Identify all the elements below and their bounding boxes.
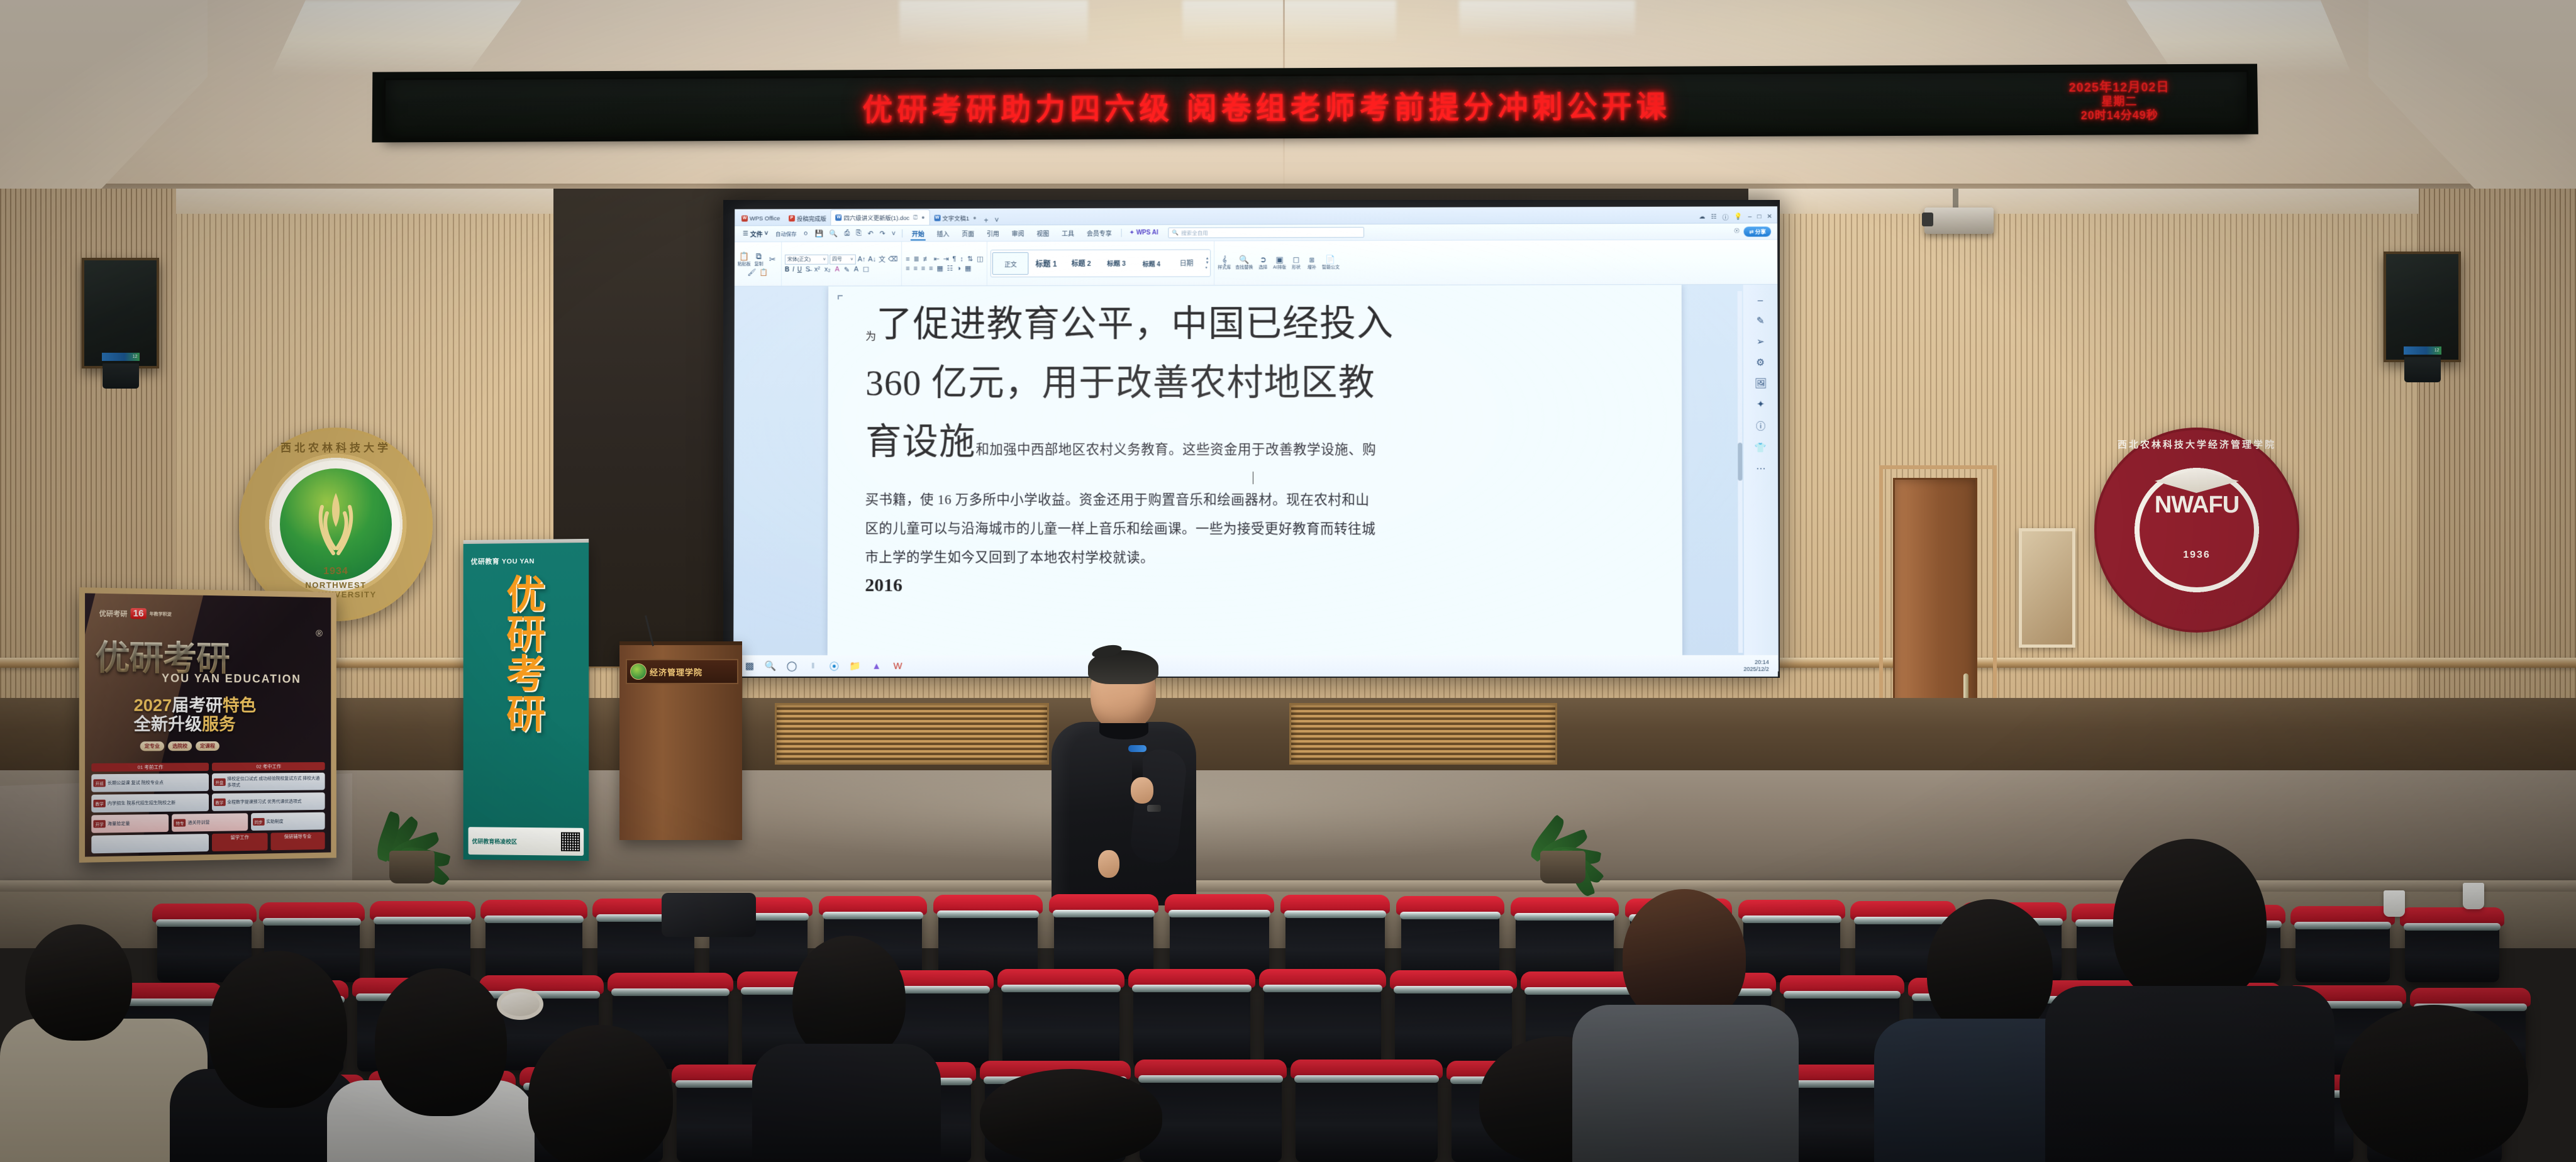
gallery-scroll-arrows[interactable]: ▲ ▼ ▾ bbox=[1204, 257, 1209, 270]
poster-footer-card: 保研辅导专业 bbox=[270, 832, 325, 850]
doc-paragraph-line-2: 买书籍，使 16 万多所中小学收益。资金还用于购置音乐和绘画器材。现在农村和山 bbox=[865, 485, 1644, 515]
speaker-badge: 12 bbox=[2404, 346, 2441, 355]
addon-button[interactable]: ⧈ 增补 bbox=[1306, 255, 1318, 270]
smart-doc-label: 智能公文 bbox=[1322, 264, 1340, 270]
wps-home-tab[interactable]: W WPS Office bbox=[737, 211, 784, 225]
poster-card-text: 海量拾定量 bbox=[108, 821, 130, 827]
auditorium-seat bbox=[1296, 1069, 1438, 1162]
podium-plaque: 经济管理学院 bbox=[626, 659, 738, 684]
share-label: 分享 bbox=[1755, 228, 1766, 235]
hair-scrunchie bbox=[497, 988, 543, 1020]
cloud-sync-icon[interactable]: ☁ bbox=[1699, 214, 1705, 221]
help-icon[interactable]: ⓘ bbox=[1723, 212, 1729, 221]
emblem-left-en-line1: NORTHWEST bbox=[305, 580, 366, 590]
projected-wps-window[interactable]: W WPS Office P 投稿完成版 W 四六级讲义更新版(1).doc ⎚… bbox=[733, 206, 1779, 672]
ribbon-group-clipboard: 📋 粘贴板 ⧉ 复制 ✂ 🖌 📋 bbox=[735, 242, 781, 286]
highlight-color-icon[interactable]: ✎ bbox=[843, 265, 850, 274]
print-preview-icon[interactable]: ⎘ bbox=[853, 230, 865, 238]
style-heading-1[interactable]: 标题 1 bbox=[1029, 253, 1064, 274]
audience-member-head bbox=[2113, 839, 2267, 1007]
character-border-icon[interactable]: ☐ bbox=[862, 265, 870, 274]
clock-time: 20:14 bbox=[1743, 659, 1769, 666]
auditorium-seat bbox=[1401, 905, 1499, 981]
lecture-hall-photo: 12 12 优研考研助力四六级 阅卷组老师考前提分冲刺公开课 2025年12月0… bbox=[0, 0, 2576, 1162]
auditorium-seat bbox=[2296, 916, 2390, 982]
shape-label: 形状 bbox=[1292, 264, 1301, 270]
speaker-badge: 12 bbox=[102, 353, 140, 361]
poster-chip: 选院校 bbox=[168, 741, 192, 751]
poster-badge-note: 年教学积淀 bbox=[150, 611, 172, 617]
shading-icon[interactable]: ◑ bbox=[956, 265, 962, 272]
emblem-left-name-cn: 西北农林科技大学 bbox=[241, 439, 430, 455]
font-family-select[interactable]: 宋体(正文) ˅ bbox=[785, 254, 828, 264]
poster-badge: 优研考研 16 年教学积淀 bbox=[99, 607, 172, 619]
rollup-brand-en: YOU YAN bbox=[502, 558, 535, 565]
italic-button[interactable]: I bbox=[792, 266, 794, 273]
led-time: 20时14分49秒 bbox=[2016, 109, 2223, 123]
doc-inline-tail: 和加强中西部地区农村义务教育。这些资金用于改善教学设施、购 bbox=[975, 439, 1376, 461]
sparkle-icon[interactable]: ✦ bbox=[1757, 399, 1765, 410]
ceiling-light-cove bbox=[270, 0, 522, 75]
poster-promo-year: 2027 bbox=[134, 696, 172, 715]
cursor-select-icon: ➲ bbox=[1260, 255, 1267, 263]
audience-member-shoulders bbox=[2045, 986, 2334, 1162]
auditorium-seat bbox=[1743, 909, 1840, 982]
show-marks-icon[interactable]: ¶ bbox=[952, 255, 957, 263]
wps-ai-label: WPS AI bbox=[1136, 230, 1158, 236]
divider bbox=[902, 230, 902, 238]
minimize-button[interactable]: – bbox=[1748, 213, 1752, 220]
increase-font-icon[interactable]: A↑ bbox=[857, 255, 867, 263]
ribbon-tab-review[interactable]: 审阅 bbox=[1006, 227, 1031, 239]
smart-doc-button[interactable]: 📄 智能公文 bbox=[1322, 255, 1340, 270]
image-icon[interactable]: 🖼 bbox=[1755, 377, 1767, 389]
emblem-right-name-cn: 西北农林科技大学经济管理学院 bbox=[2097, 438, 2297, 451]
decrease-font-icon[interactable]: A↓ bbox=[867, 255, 877, 263]
ribbon-tab-insert[interactable]: 插入 bbox=[931, 228, 956, 240]
search-doc-icon[interactable]: 🔍 bbox=[826, 230, 841, 238]
shirt-icon[interactable]: 👕 bbox=[1755, 442, 1767, 453]
font-color-icon[interactable]: A bbox=[853, 266, 859, 274]
table-tools-icon[interactable]: ▦ bbox=[964, 264, 972, 272]
margin-marker bbox=[838, 295, 843, 299]
search-placeholder: 搜索全自用 bbox=[1181, 229, 1207, 236]
document-tab-active[interactable]: W 四六级讲义更新版(1).doc ⎚ ● bbox=[831, 209, 930, 225]
subscript-icon[interactable]: x₂ bbox=[824, 266, 831, 274]
presenter-watch bbox=[1147, 805, 1161, 812]
wall-speaker-left: 12 bbox=[82, 258, 159, 368]
edge-icon[interactable]: ⦿ bbox=[824, 660, 845, 673]
poster-card: 教学 全程数字提课预习式 优秀代课优选项式 bbox=[211, 792, 325, 811]
find-replace-button[interactable]: 🔍 查找替换 bbox=[1235, 255, 1253, 270]
poster-card-tag: 开班 bbox=[93, 779, 105, 787]
align-center-icon[interactable]: ≡ bbox=[913, 265, 918, 272]
store-icon[interactable]: ▲ bbox=[866, 661, 887, 672]
autosave-label: 自动保存 bbox=[772, 230, 800, 238]
underline-button[interactable]: U bbox=[797, 266, 802, 273]
divider: ‖ bbox=[802, 661, 824, 670]
poster-card-text: 通关符训营 bbox=[187, 819, 209, 826]
poster-registered-mark: ® bbox=[316, 628, 323, 639]
poster-card: 同步 实助制度 bbox=[251, 812, 325, 831]
chevron-down-icon[interactable]: ▼ bbox=[1206, 261, 1209, 265]
strikethrough-icon[interactable]: S̶ bbox=[805, 266, 811, 274]
ribbon-group-paragraph: ≡ ≣ ≢ ⇤ ⇥ ¶ ↕ ⇅ ◫ ≡ ≡ ≡ ≡ ▦ ☷ ◑ bbox=[901, 241, 987, 285]
poster-chip: 定专业 bbox=[140, 741, 164, 751]
expand-icon[interactable]: ▾ bbox=[1206, 265, 1209, 270]
format-painter-icon[interactable]: 🖌 bbox=[747, 268, 757, 276]
rollup-brand-cn: 优研教育 bbox=[471, 558, 500, 565]
close-icon[interactable]: ● bbox=[921, 214, 924, 221]
emblem-right-monogram: NWAFU bbox=[2097, 492, 2297, 519]
audience-member-head bbox=[792, 936, 906, 1061]
college-emblem-right: 西北农林科技大学经济管理学院 NWAFU 1936 COLLEGE OF ECO… bbox=[2094, 428, 2299, 633]
ribbon-tab-page[interactable]: 页面 bbox=[955, 227, 980, 239]
emblem-right-name-en: COLLEGE OF ECONOMICS & MANAGEMENT bbox=[2097, 599, 2297, 616]
poster-chip: 定课程 bbox=[196, 741, 219, 751]
windows-start-icon[interactable]: ▩ bbox=[739, 660, 760, 672]
audience-member-head bbox=[2340, 1005, 2528, 1162]
smart-doc-icon: 📄 bbox=[1326, 255, 1336, 263]
poster-chip-row: 定专业 选院校 定课程 bbox=[140, 741, 219, 751]
paste-label: 粘贴板 bbox=[738, 260, 751, 267]
ribbon-group-font: 宋体(正文) ˅ 四号 ˅ A↑ A↓ 文 ⌫ B I U S̶ bbox=[781, 242, 901, 286]
poster-card: 特专 通关符训营 bbox=[172, 813, 247, 832]
style-pane-label: 样式库 bbox=[1218, 264, 1231, 270]
doc-big-text-3: 育设施 bbox=[865, 412, 976, 472]
doc-big-line-1: 为了促进教育公平，中国已经投入 bbox=[865, 294, 1643, 354]
share-icon: ⇄ bbox=[1749, 228, 1753, 235]
copy-label: 复制 bbox=[755, 260, 763, 267]
vertical-scrollbar[interactable] bbox=[1738, 291, 1743, 653]
poster-card-text: 实助制度 bbox=[266, 818, 283, 824]
qr-code-icon bbox=[561, 833, 580, 851]
audience-member-head bbox=[980, 1069, 1162, 1162]
settings-sliders-icon[interactable]: ⚙ bbox=[1756, 357, 1765, 368]
addon-icon: ⧈ bbox=[1309, 255, 1314, 263]
hamburger-icon: ☰ bbox=[743, 230, 748, 237]
ribbon-group-styles: 正文 标题 1 标题 2 标题 3 标题 4 日期 ▲ ▼ ▾ bbox=[987, 241, 1214, 285]
font-size-value: 四号 bbox=[832, 256, 842, 263]
auditorium-seat bbox=[1133, 978, 1250, 1068]
audience-member-head bbox=[375, 968, 507, 1116]
shape-button[interactable]: ◻ 形状 bbox=[1291, 255, 1302, 270]
auditorium-seat bbox=[1395, 980, 1512, 1068]
led-banner-headline: 优研考研助力四六级 阅卷组老师考前提分冲刺公开课 bbox=[386, 80, 2016, 131]
poster-card: 开学 海量拾定量 bbox=[91, 814, 169, 833]
doc-big-line-3: 育设施 和加强中西部地区农村义务教育。这些资金用于改善教学设施、购 bbox=[865, 412, 1644, 472]
tab-label: 文字文稿1 bbox=[942, 214, 969, 223]
select-label: 选择 bbox=[1258, 264, 1267, 270]
audience-member-head bbox=[528, 1025, 673, 1162]
auditorium-seat bbox=[1516, 907, 1614, 981]
plant-pot bbox=[389, 851, 435, 883]
poster-card-text: 全程数字提课预习式 优秀代课优选项式 bbox=[227, 798, 301, 805]
poster-card: 开班 长期公益课 复试 院校专业点 bbox=[91, 773, 208, 792]
line-spacing-icon[interactable]: ↕ bbox=[959, 255, 963, 263]
maximize-button[interactable]: □ bbox=[1757, 213, 1761, 220]
tools-icon[interactable]: ☷ bbox=[1711, 214, 1717, 221]
poster-card bbox=[91, 834, 209, 853]
poster-badge-years: 16 bbox=[131, 608, 147, 619]
auditorium-seat bbox=[1002, 978, 1119, 1068]
audience-member-head bbox=[1927, 899, 2053, 1039]
wall-speaker-right: 12 bbox=[2384, 252, 2461, 362]
ceiling-light-cove bbox=[1459, 0, 1635, 39]
clear-format-icon[interactable]: ⌫ bbox=[887, 255, 898, 263]
poster-card-text: 择校定位口试式 成功经验院校复试方式 择校大通多项式 bbox=[227, 775, 323, 788]
rollup-footer: 优研教育杨凌校区 bbox=[469, 827, 584, 856]
ribbon-tab-reference[interactable]: 引用 bbox=[980, 227, 1006, 239]
file-explorer-icon[interactable]: 📁 bbox=[845, 660, 866, 672]
presenter-collar bbox=[1099, 723, 1148, 739]
paper-cup bbox=[2384, 890, 2405, 917]
poster-card-tag: 同步 bbox=[253, 818, 265, 826]
decorative-plant bbox=[352, 770, 472, 883]
poster-card-tag: 特专 bbox=[174, 819, 186, 827]
bag-on-seat bbox=[662, 893, 756, 937]
style-gallery[interactable]: 正文 标题 1 标题 2 标题 3 标题 4 日期 ▲ ▼ ▾ bbox=[991, 249, 1211, 277]
poster-promo-feature: 特色 bbox=[223, 696, 256, 715]
poster-col2-header: 02 考中工作 bbox=[211, 762, 325, 771]
rollup-headline: 优研考研 bbox=[464, 575, 589, 735]
copy-button[interactable]: ⧉ 复制 bbox=[753, 252, 765, 267]
file-menu-label: 文件 bbox=[750, 229, 763, 238]
rollup-brand: 优研教育 YOU YAN bbox=[471, 556, 535, 567]
wps-icon[interactable]: W bbox=[887, 661, 909, 672]
help-icon[interactable]: ⓘ bbox=[1756, 419, 1765, 433]
font-size-select[interactable]: 四号 ˅ bbox=[830, 254, 856, 264]
scissors-icon: ✂ bbox=[769, 255, 776, 263]
auditorium-seat bbox=[1170, 904, 1269, 979]
autosave-toggle[interactable]: ⚪ bbox=[800, 230, 812, 238]
ceiling-light-cove bbox=[899, 0, 1088, 47]
doc-paragraph-line-3: 区的儿童可以与沿海城市的儿童一样上音乐和绘画课。一些为接受更好教育而转往城 bbox=[865, 514, 1644, 545]
bold-button[interactable]: B bbox=[785, 266, 789, 273]
sort-icon[interactable]: ⇅ bbox=[967, 255, 974, 263]
copy-icon: ⧉ bbox=[756, 252, 762, 260]
multilevel-list-icon[interactable]: ≢ bbox=[923, 255, 931, 263]
ribbon-tab-tools[interactable]: 工具 bbox=[1055, 227, 1080, 239]
plant-pot bbox=[1540, 851, 1585, 883]
bullet-list-icon[interactable]: ≡ bbox=[905, 255, 910, 263]
podium-plaque-text: 经济管理学院 bbox=[650, 666, 702, 678]
word-file-icon: W bbox=[934, 215, 940, 221]
collapse-icon[interactable]: – bbox=[1758, 295, 1763, 306]
ai-layout-label: AI排版 bbox=[1273, 264, 1286, 270]
college-seal-icon bbox=[630, 663, 647, 680]
stage-vent-grille bbox=[1289, 703, 1557, 765]
save-icon[interactable]: 💾 bbox=[812, 230, 826, 238]
search-icon: 🔍 bbox=[1172, 230, 1179, 236]
monitor-icon[interactable]: ⎚ bbox=[913, 214, 918, 221]
style-pane-icon: 𝄞 bbox=[1222, 255, 1227, 263]
redo-icon[interactable]: ↷ bbox=[877, 230, 889, 238]
tab-label: WPS Office bbox=[750, 215, 780, 222]
auditorium-seat bbox=[938, 904, 1038, 980]
led-banner-clock: 2025年12月02日 星期二 20时14分49秒 bbox=[2015, 80, 2223, 124]
superscript-icon[interactable]: x² bbox=[814, 266, 821, 274]
justify-icon[interactable]: ≡ bbox=[928, 265, 933, 272]
audience-member-shoulders bbox=[1572, 1005, 1799, 1162]
doc-big-prefix: 为 bbox=[865, 331, 876, 343]
divider bbox=[1121, 229, 1122, 237]
task-view-icon[interactable]: ◯ bbox=[781, 660, 802, 672]
distribute-icon[interactable]: ▦ bbox=[936, 264, 943, 272]
door-handle[interactable] bbox=[1963, 673, 1968, 700]
pdf-file-icon: P bbox=[789, 215, 795, 221]
word-file-icon: W bbox=[836, 214, 842, 221]
taskbar-clock[interactable]: 20:14 2025/12/2 bbox=[1743, 659, 1773, 672]
chevron-down-icon[interactable]: ˅ bbox=[889, 230, 899, 237]
align-left-icon[interactable]: ≡ bbox=[905, 265, 910, 272]
rollup-footer-text: 优研教育杨凌校区 bbox=[472, 837, 518, 846]
decorative-plant bbox=[1503, 773, 1623, 883]
wps-ribbon: 📋 粘贴板 ⧉ 复制 ✂ 🖌 📋 bbox=[735, 240, 1777, 286]
tab-label: 四六级讲义更新版(1).doc bbox=[844, 213, 910, 222]
presenter-hand bbox=[1098, 850, 1119, 878]
select-button[interactable]: ➲ 选择 bbox=[1257, 255, 1269, 270]
poster-card-text: 长期公益课 复试 院校专业点 bbox=[108, 780, 164, 787]
cut-button[interactable]: ✂ bbox=[767, 255, 778, 263]
style-date[interactable]: 日期 bbox=[1169, 252, 1204, 274]
emblem-left-disc bbox=[280, 468, 392, 580]
poster-promo-kaoyan: 届考研 bbox=[172, 696, 223, 715]
shape-icon: ◻ bbox=[1293, 255, 1300, 263]
text-effect-icon[interactable]: A bbox=[835, 266, 840, 274]
right-sidebar-toolstrip: – ✎ ➢ ⚙ 🖼 ✦ ⓘ 👕 ⋯ bbox=[1743, 285, 1779, 660]
paper-cup bbox=[2463, 883, 2484, 909]
document-tab[interactable]: W 文字文稿1 ● bbox=[930, 211, 980, 225]
rollup-top-rail bbox=[464, 539, 589, 544]
poster-card-text: 内学招生 院系代招生招生院校之新 bbox=[108, 800, 175, 807]
print-icon[interactable]: ⎙ bbox=[841, 230, 853, 238]
ai-layout-button[interactable]: ▣ AI排版 bbox=[1273, 255, 1286, 270]
emblem-right-year: 1936 bbox=[2097, 550, 2297, 561]
poster-promo-service: 服务 bbox=[202, 715, 235, 734]
poster-footer-card: 留学工作 bbox=[212, 833, 267, 851]
poster-card-tag: 教学 bbox=[213, 799, 225, 806]
text-cursor bbox=[1252, 472, 1253, 484]
lightbulb-icon[interactable]: 💡 bbox=[1735, 213, 1743, 220]
document-canvas[interactable]: 为了促进教育公平，中国已经投入 360 亿元，用于改善农村地区教 育设施 和加强… bbox=[733, 285, 1779, 660]
document-tab[interactable]: P 投稿完成版 bbox=[784, 211, 831, 225]
presenter bbox=[1052, 654, 1196, 905]
poster-subtitle-en: YOU YAN EDUCATION bbox=[162, 672, 301, 685]
scrollbar-thumb[interactable] bbox=[1738, 443, 1742, 480]
style-pane-button[interactable]: 𝄞 样式库 bbox=[1218, 255, 1231, 270]
pen-icon[interactable]: ✎ bbox=[1757, 315, 1765, 326]
find-replace-label: 查找替换 bbox=[1235, 264, 1253, 270]
search-icon: 🔍 bbox=[1239, 255, 1249, 263]
style-heading-4[interactable]: 标题 4 bbox=[1134, 253, 1169, 274]
led-weekday: 星期二 bbox=[2016, 95, 2223, 109]
chevron-down-icon: ˅ bbox=[823, 257, 826, 262]
style-heading-3[interactable]: 标题 3 bbox=[1099, 253, 1134, 274]
file-menu-button[interactable]: ☰ 文件 ˅ bbox=[738, 229, 772, 238]
paste-button[interactable]: 📋 粘贴板 bbox=[738, 252, 751, 267]
wps-ai-button[interactable]: ✦ WPS AI bbox=[1125, 230, 1163, 236]
increase-indent-icon[interactable]: ⇥ bbox=[943, 255, 950, 263]
poster-info-grid: 01 考前工作 02 考中工作 开班 长期公益课 复试 院校专业点 开盘 择校定… bbox=[91, 762, 325, 853]
poster-card-tag: 开盘 bbox=[213, 778, 225, 786]
doc-paragraph-line-4: 市上学的学生如今又回到了本地农村学校就读。 bbox=[865, 543, 1644, 573]
poster-card: 开盘 择校定位口试式 成功经验院校复试方式 择校大通多项式 bbox=[211, 773, 325, 791]
addon-label: 增补 bbox=[1307, 264, 1316, 270]
chevron-down-icon: ˅ bbox=[850, 257, 853, 262]
auditorium-seat bbox=[486, 909, 582, 982]
doc-big-text-1: 了促进教育公平，中国已经投入 bbox=[876, 303, 1394, 345]
ribbon-tab-start[interactable]: 开始 bbox=[906, 228, 931, 240]
auditorium-seat bbox=[1054, 904, 1153, 979]
lectern-podium: 经济管理学院 bbox=[619, 641, 742, 840]
window-controls: ☁ ☷ ⓘ 💡 – □ ✕ bbox=[1699, 212, 1777, 223]
audience-member-head bbox=[25, 924, 132, 1041]
menubar-right-actions: ☉ ⇄ 分享 bbox=[1734, 226, 1774, 236]
chevron-down-icon: ˅ bbox=[764, 230, 768, 237]
stage-front-panel bbox=[0, 698, 2576, 773]
poster-grid-headers: 01 考前工作 02 考中工作 bbox=[91, 762, 325, 772]
led-banner: 优研考研助力四六级 阅卷组老师考前提分冲刺公开课 2025年12月02日 星期二… bbox=[384, 70, 2250, 140]
sync-icon[interactable]: ☉ bbox=[1734, 228, 1740, 235]
windows-taskbar: ▩ 🔍 ◯ ‖ ⦿ 📁 ▲ W 20:14 2025/12/2 bbox=[734, 655, 1778, 677]
poster-promo: 2027届考研特色 全新升级服务 bbox=[134, 696, 319, 734]
led-date: 2025年12月02日 bbox=[2015, 80, 2223, 96]
close-button[interactable]: ✕ bbox=[1767, 213, 1772, 220]
search-icon[interactable]: 🔍 bbox=[760, 660, 782, 672]
ai-layout-icon: ▣ bbox=[1276, 255, 1284, 263]
auditorium-seat bbox=[2405, 917, 2499, 982]
clock-date: 2025/12/2 bbox=[1743, 666, 1769, 673]
poster-badge-brand: 优研考研 bbox=[99, 608, 128, 619]
poster-card: 教学 内学招生 院系代招生招生院校之新 bbox=[91, 794, 208, 812]
wall-artwork bbox=[2019, 528, 2075, 648]
chevron-up-icon[interactable]: ▲ bbox=[1206, 257, 1209, 260]
borders-icon[interactable]: ☷ bbox=[947, 264, 954, 272]
pinyin-icon[interactable]: 文 bbox=[878, 254, 886, 264]
wps-menubar: ☰ 文件 ˅ 自动保存 ⚪ 💾 🔍 ⎙ ⎘ ↶ ↷ ˅ 开始 插入 页面 引用 … bbox=[735, 223, 1777, 242]
doc-big-line-2: 360 亿元，用于改善农村地区教 bbox=[865, 353, 1644, 412]
font-family-value: 宋体(正文) bbox=[787, 256, 811, 263]
chevron-down-icon[interactable]: ˅ bbox=[991, 216, 1002, 224]
wps-titlebar: W WPS Office P 投稿完成版 W 四六级讲义更新版(1).doc ⎚… bbox=[735, 206, 1777, 226]
audience-member-shoulders bbox=[752, 1044, 941, 1162]
style-normal[interactable]: 正文 bbox=[992, 252, 1029, 275]
decrease-indent-icon[interactable]: ⇤ bbox=[933, 255, 940, 263]
ceiling-projector bbox=[1924, 207, 1994, 234]
undo-icon[interactable]: ↶ bbox=[865, 230, 877, 238]
ribbon-tab-view[interactable]: 视图 bbox=[1030, 227, 1055, 239]
search-input[interactable]: 🔍 搜索全自用 bbox=[1169, 227, 1365, 238]
cursor-icon[interactable]: ➢ bbox=[1757, 336, 1765, 347]
clipboard-icon[interactable]: 📋 bbox=[759, 268, 769, 276]
align-right-icon[interactable]: ≡ bbox=[921, 265, 926, 272]
ribbon-tab-member[interactable]: 会员专享 bbox=[1080, 227, 1118, 239]
stage-vent-grille bbox=[775, 703, 1049, 765]
audience-member-head bbox=[209, 951, 347, 1108]
close-icon[interactable]: ● bbox=[973, 215, 976, 221]
style-heading-2[interactable]: 标题 2 bbox=[1063, 253, 1099, 274]
numbered-list-icon[interactable]: ≣ bbox=[913, 255, 919, 263]
new-tab-button[interactable]: + bbox=[980, 216, 991, 225]
share-button[interactable]: ⇄ 分享 bbox=[1744, 226, 1771, 236]
rollup-banner: 优研教育 YOU YAN 优研考研 优研教育杨凌校区 bbox=[464, 539, 589, 861]
paste-icon: 📋 bbox=[739, 252, 749, 260]
columns-icon[interactable]: ◫ bbox=[976, 255, 984, 263]
document-page[interactable]: 为了促进教育公平，中国已经投入 360 亿元，用于改善农村地区教 育设施 和加强… bbox=[828, 285, 1682, 659]
more-icon[interactable]: ⋯ bbox=[1756, 463, 1765, 474]
promotional-poster: 优研考研 16 年教学积淀 优研考研 ® YOU YAN EDUCATION 2… bbox=[79, 587, 336, 863]
